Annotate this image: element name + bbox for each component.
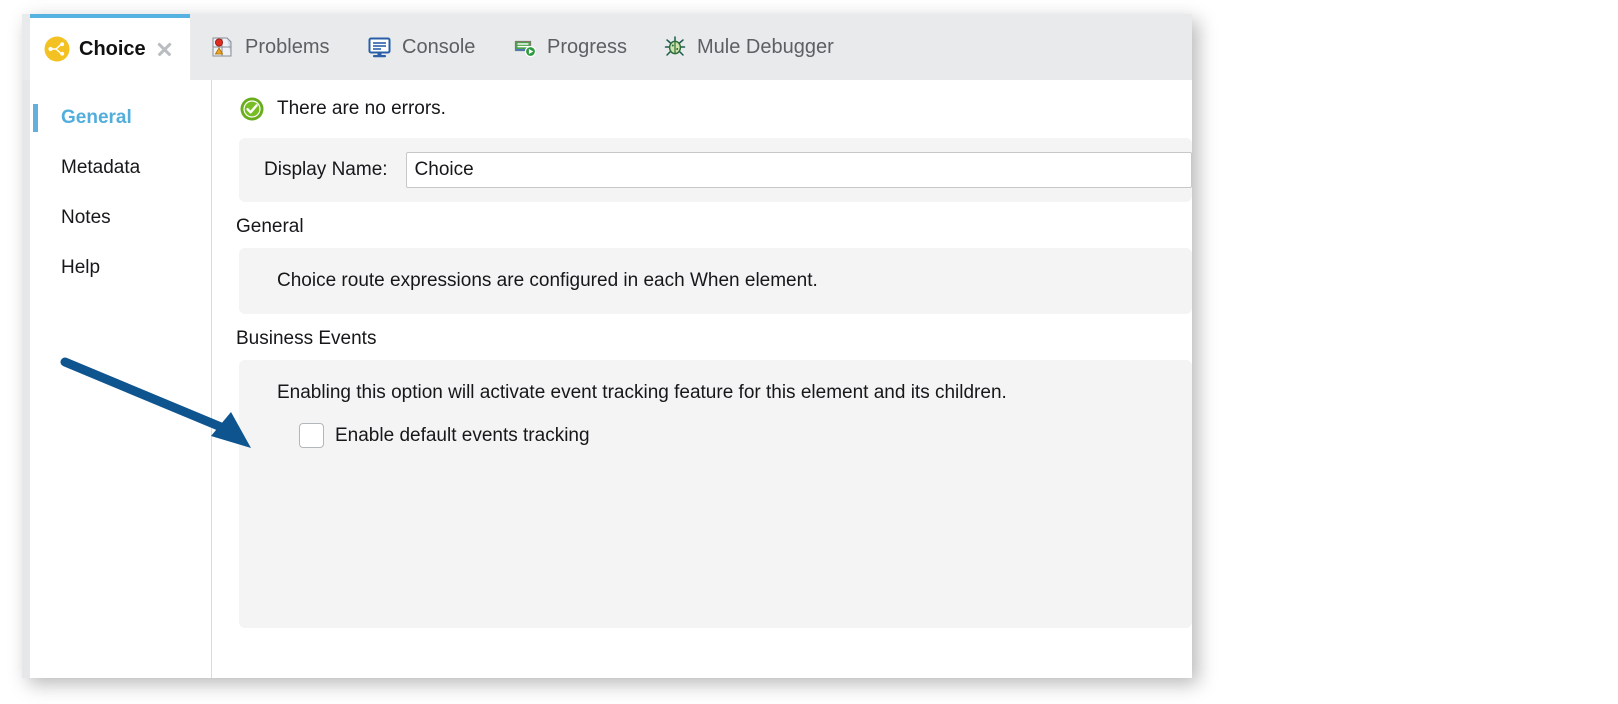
progress-icon [512,34,538,60]
enable-default-events-tracking-label: Enable default events tracking [335,425,590,447]
properties-main-pane: There are no errors. Display Name: Gener… [212,80,1192,678]
mule-debugger-icon [662,34,688,60]
business-events-section-title: Business Events [212,314,1192,360]
tab-progress-label: Progress [547,36,627,59]
display-name-label: Display Name: [264,159,388,181]
business-events-card: Enabling this option will activate event… [239,360,1192,628]
sidebar-item-notes[interactable]: Notes [30,193,211,243]
tab-mule-debugger-label: Mule Debugger [697,36,834,59]
status-text: There are no errors. [277,98,446,120]
sidebar-item-metadata[interactable]: Metadata [30,143,211,193]
properties-sidebar: General Metadata Notes Help [30,80,212,678]
tab-progress[interactable]: Progress [512,14,627,80]
enable-default-events-tracking-checkbox[interactable] [299,423,324,448]
choice-icon [44,36,70,62]
display-name-input[interactable] [406,152,1192,188]
problems-icon [210,34,236,60]
general-description: Choice route expressions are configured … [277,270,818,292]
general-info-card: Choice route expressions are configured … [239,248,1192,314]
tab-mule-debugger[interactable]: Mule Debugger [662,14,834,80]
console-icon [367,34,393,60]
editor-content: General Metadata Notes Help There [22,80,1192,678]
success-check-icon [239,96,265,122]
sidebar-item-general[interactable]: General [30,93,211,143]
tab-choice[interactable]: Choice [30,14,190,80]
tab-problems[interactable]: Problems [210,14,329,80]
close-icon[interactable] [155,40,173,58]
business-events-description: Enabling this option will activate event… [277,382,1192,404]
tab-bar: Choice Problems [22,14,1192,80]
eclipse-window: Choice Problems [22,14,1192,678]
sidebar-item-metadata-label: Metadata [61,157,140,179]
sidebar-item-help-label: Help [61,257,100,279]
enable-default-events-tracking-row[interactable]: Enable default events tracking [299,423,1192,448]
sidebar-item-notes-label: Notes [61,207,111,229]
sidebar-item-general-label: General [61,107,132,129]
tab-choice-label: Choice [79,38,146,61]
general-section-title: General [212,202,1192,248]
status-row: There are no errors. [212,80,1192,138]
tab-console-label: Console [402,36,475,59]
tab-console[interactable]: Console [367,14,475,80]
tab-problems-label: Problems [245,36,329,59]
display-name-card: Display Name: [239,138,1192,202]
active-accent-bar [33,104,38,132]
left-gutter [22,80,30,678]
sidebar-item-help[interactable]: Help [30,243,211,293]
